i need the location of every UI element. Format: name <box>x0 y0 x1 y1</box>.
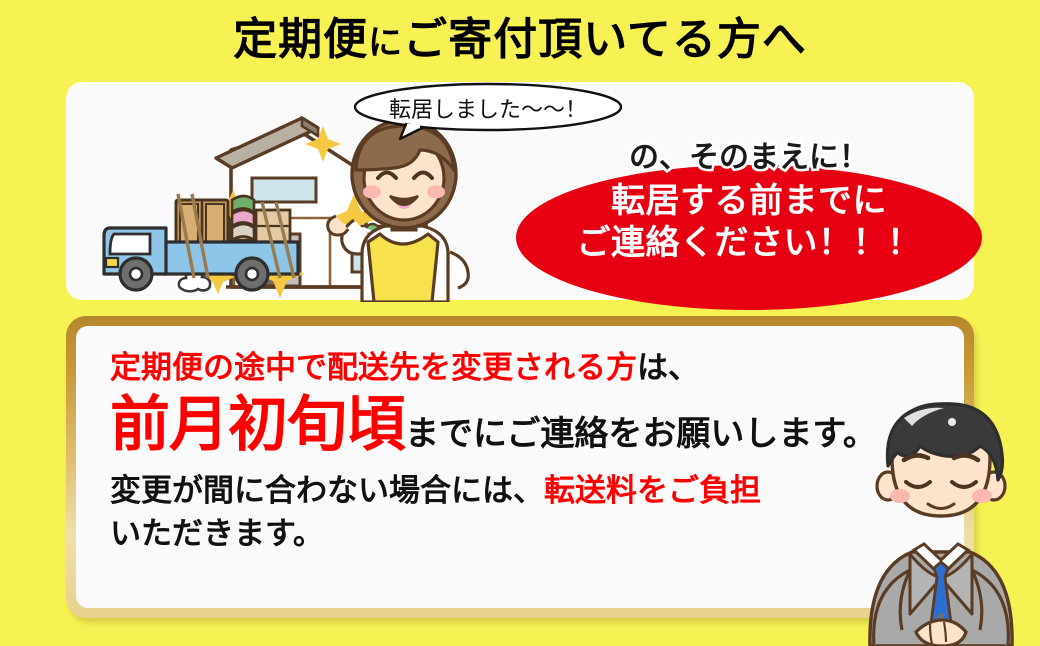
notice-line-1: 定期便の途中で配送先を変更される方は、 <box>110 352 934 383</box>
notice-line-2-black: までにご連絡をお願いします。 <box>405 417 877 451</box>
page-title: 定期便にご寄付頂いてる方へ <box>233 18 807 62</box>
notice-line-4-black: いただきます。 <box>110 516 324 551</box>
page-title-main: 定期便 <box>233 15 368 64</box>
smiling-woman-icon <box>318 112 494 302</box>
bowing-businessman-icon <box>852 378 1040 646</box>
callout-line-2: ご連絡ください！！！ <box>577 224 922 262</box>
bottom-notice-panel: 定期便の途中で配送先を変更される方は、 前月初旬頃までにご連絡をお願いします。 … <box>66 316 974 618</box>
page-title-rest: ご寄付頂いてる方へ <box>403 15 807 64</box>
speech-bubble-text: 転居しました～～！ <box>352 82 624 134</box>
notice-line-1-black: は、 <box>637 350 699 385</box>
bottom-notice-inner: 定期便の途中で配送先を変更される方は、 前月初旬頃までにご連絡をお願いします。 … <box>76 326 964 608</box>
notice-line-4: いただきます。 <box>110 518 934 549</box>
callout-lead-text-wrap: の、そのまえに！ <box>516 132 982 176</box>
callout-text-block: 転居する前までに ご連絡ください！！！ <box>516 182 982 302</box>
notice-line-3-black: 変更が間に合わない場合には、 <box>110 473 544 508</box>
notice-line-1-red: 定期便の途中で配送先を変更される方 <box>110 350 637 385</box>
notice-line-3: 変更が間に合わない場合には、転送料をご負担 <box>110 475 934 506</box>
notice-line-2: 前月初旬頃までにご連絡をお願いします。 <box>110 395 934 455</box>
notice-line-3-red: 転送料をご負担 <box>544 473 761 508</box>
callout-lead-text: の、そのまえに！ <box>629 141 869 174</box>
page-title-particle: に <box>368 24 403 62</box>
page-header: 定期便にご寄付頂いてる方へ <box>0 0 1040 80</box>
notice-deadline-highlight: 前月初旬頃 <box>110 395 405 455</box>
callout-line-1: 転居する前までに <box>611 182 887 220</box>
